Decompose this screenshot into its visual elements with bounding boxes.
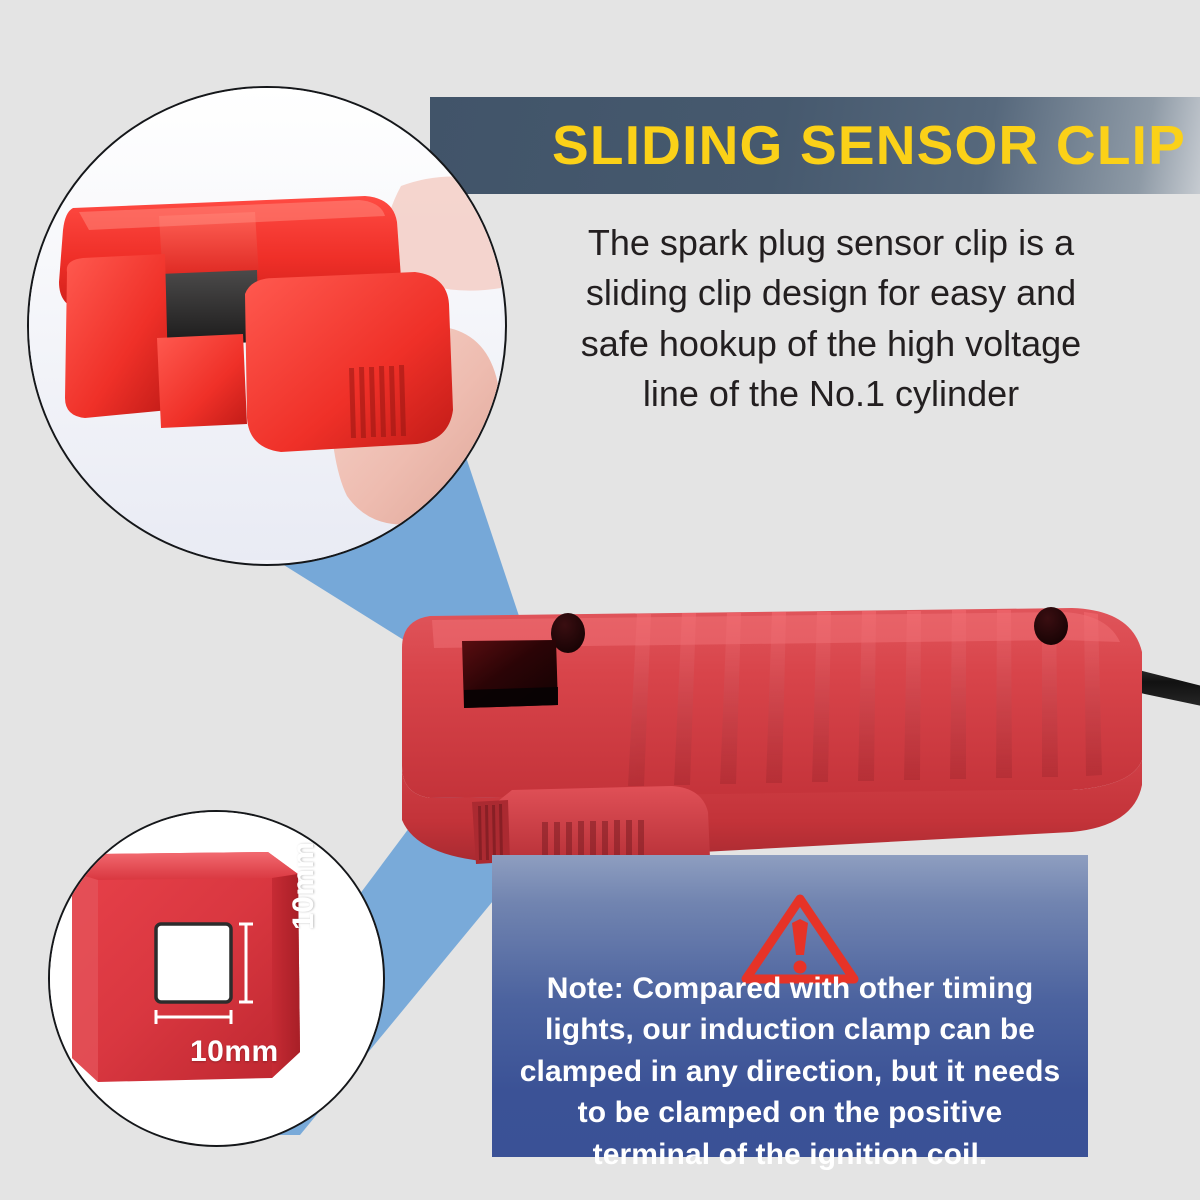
note-line-2: lights, our induction clamp can be: [510, 1009, 1070, 1050]
dimension-height-label: 10mm: [287, 841, 321, 930]
note-line-4: to be clamped on the positive: [510, 1092, 1070, 1133]
description-line-4: line of the No.1 cylinder: [508, 369, 1154, 419]
callout-circle-sliding-clip: [27, 86, 507, 566]
clip-right-arm: [245, 272, 453, 452]
clip-jaw-block: [157, 334, 247, 428]
page-title: SLIDING SENSOR CLIP: [552, 118, 1186, 173]
sliding-clip-closeup-art: [29, 88, 501, 560]
description-line-1: The spark plug sensor clip is a: [508, 218, 1154, 268]
slot-shadow: [464, 687, 558, 708]
clamp-square-opening: [156, 924, 231, 1002]
description-line-2: sliding clip design for easy and: [508, 268, 1154, 318]
contact-insert: [159, 270, 259, 346]
infographic-canvas: SLIDING SENSOR CLIP The spark plug senso…: [0, 0, 1200, 1200]
clamp-head-left: [72, 872, 98, 1082]
note-text: Note: Compared with other timing lights,…: [510, 968, 1070, 1175]
note-line-1: Note: Compared with other timing: [510, 968, 1070, 1009]
note-line-3: clamped in any direction, but it needs: [510, 1051, 1070, 1092]
product-image: [372, 590, 1200, 880]
clip-lower-jaw: [65, 254, 169, 418]
screw-hole-right: [1034, 607, 1068, 645]
dimension-width-label: 10mm: [190, 1035, 279, 1069]
callout-circle-clamp-opening: [48, 810, 385, 1147]
title-banner: SLIDING SENSOR CLIP: [430, 97, 1200, 194]
description-line-3: safe hookup of the high voltage: [508, 319, 1154, 369]
clamp-opening-closeup-art: [50, 812, 379, 1141]
clamp-head-top: [72, 852, 298, 880]
description-text: The spark plug sensor clip is a sliding …: [508, 218, 1154, 420]
induction-clamp-illustration: [372, 590, 1200, 880]
note-line-5: terminal of the ignition coil.: [510, 1134, 1070, 1175]
